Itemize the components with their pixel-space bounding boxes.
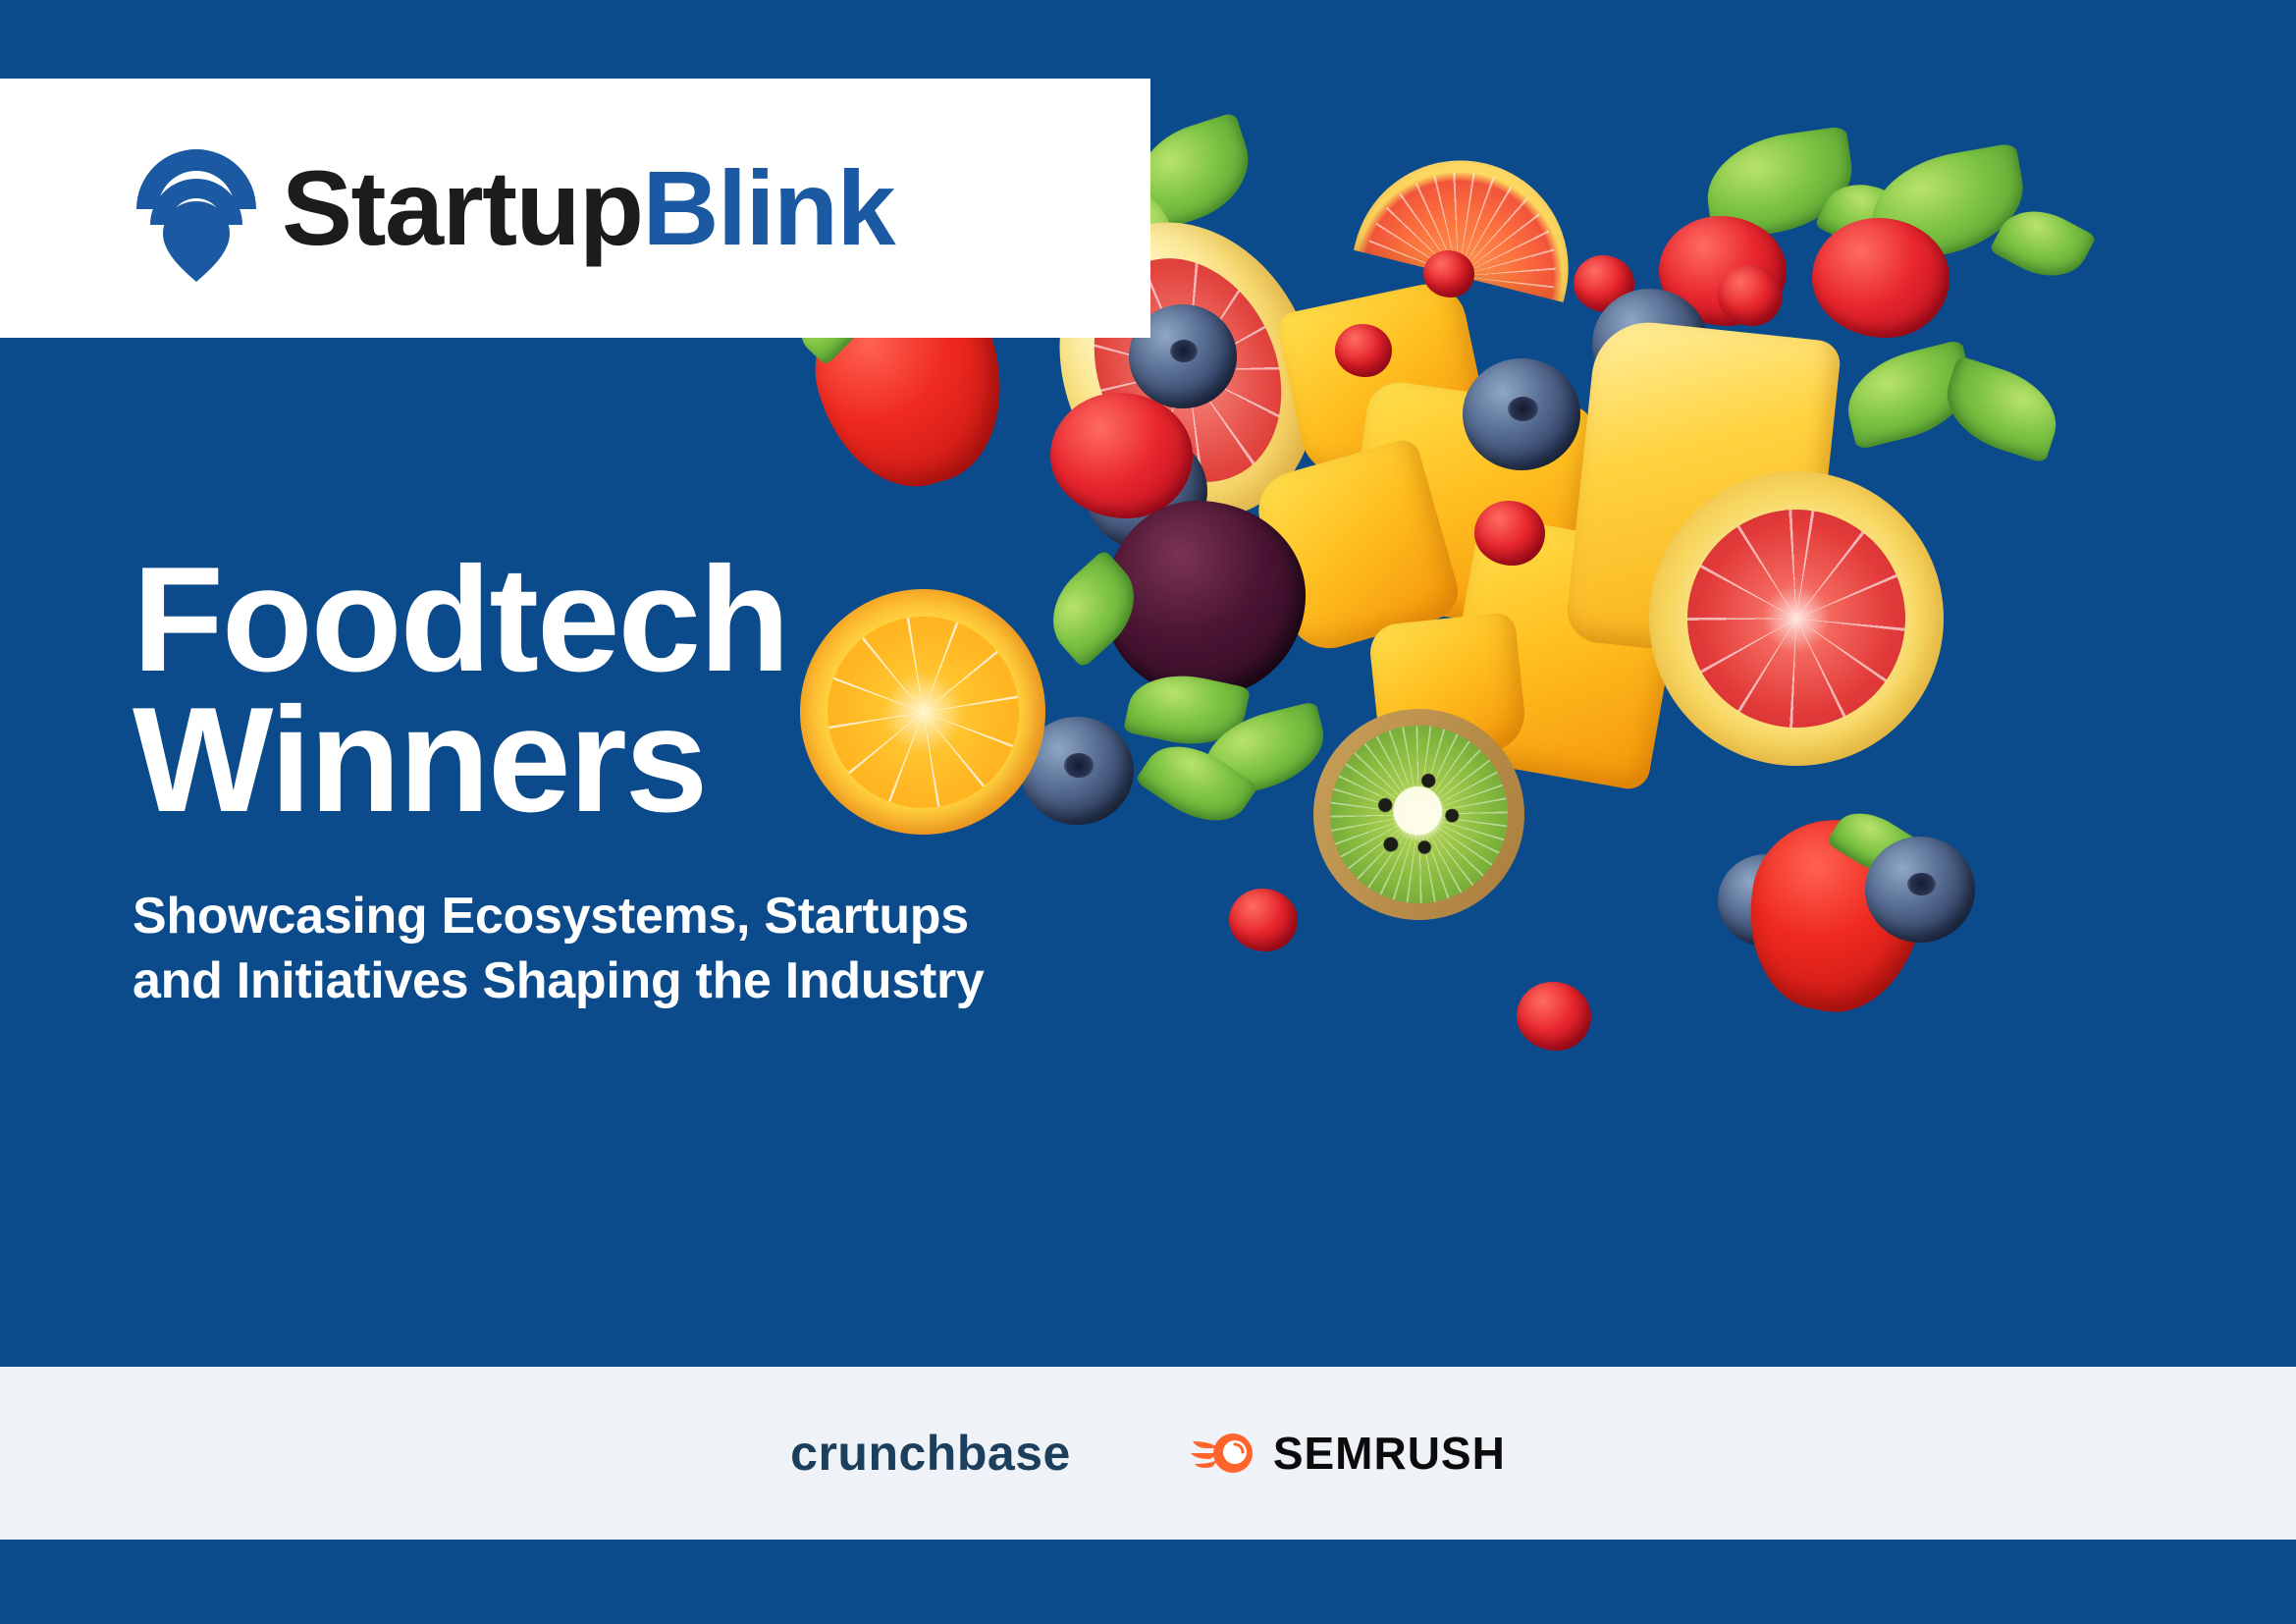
raspberry [1335,324,1392,377]
falling-fruit-collage [1168,108,2296,1188]
strawberry-leaf [1826,799,1924,888]
partner-logo-bar: crunchbase SEMRUSH [0,1367,2296,1540]
mango-chunk [1250,436,1465,658]
grapefruit-wedge [1354,137,1591,302]
semrush-wordmark: SEMRUSH [1273,1427,1506,1480]
kiwi-flesh [1306,701,1533,929]
mint-leaf-icon [1935,355,2068,464]
raspberry [1659,216,1787,326]
hero-copy: Foodtech Winners Showcasing Ecosystems, … [133,550,1232,1014]
mango-chunk [1275,277,1493,484]
blueberry [1085,432,1207,550]
raspberry [1229,889,1298,951]
brand-logo-panel: StartupBlink [0,79,1150,338]
raspberry [1718,265,1783,326]
strawberry [1734,806,1936,1024]
mint-leaf-icon [1814,169,1917,262]
wordmark-startup: Startup [282,148,643,267]
semrush-comet-icon [1189,1429,1255,1478]
blueberry [1463,358,1580,470]
raspberry [1423,250,1474,298]
title-line-2: Winners [133,690,1232,831]
grapefruit-rind [1649,609,1944,800]
raspberry [1474,501,1545,566]
raspberry [1605,555,1660,606]
wordmark-blink: Blink [643,148,895,267]
mint-leaf-icon [1989,195,2097,293]
semrush-logo[interactable]: SEMRUSH [1189,1427,1506,1480]
raspberry [1050,393,1193,518]
raspberry [1574,255,1634,312]
mango-chunk [1367,612,1528,764]
mint-leaf-icon [1838,340,1981,451]
kiwi-slice [1284,679,1555,950]
top-blue-band [0,0,2296,79]
startupblink-logo[interactable]: StartupBlink [133,135,894,282]
mint-leaf-icon [1700,126,1859,242]
location-pin-signal-icon [133,135,260,282]
grapefruit-half [1649,471,1944,766]
raspberry [1812,218,1949,338]
mint-leaf-icon [1863,142,2033,266]
mango-chunk [1564,317,1842,665]
subtitle-line-1: Showcasing Ecosystems, Startups [133,888,969,945]
startupblink-wordmark: StartupBlink [282,155,894,261]
page-subtitle: Showcasing Ecosystems, Startups and Init… [133,884,1232,1014]
mango-chunk [1340,378,1595,633]
grapefruit-flesh [1687,510,1905,728]
presentation-slide: StartupBlink Foodtech Winners Showcasing… [0,0,2296,1624]
blueberry [1592,289,1708,399]
bottom-blue-band [0,1540,2296,1624]
raspberry [1517,982,1591,1051]
crunchbase-logo[interactable]: crunchbase [790,1425,1071,1482]
subtitle-line-2: and Initiatives Shaping the Industry [133,948,1232,1014]
mango-chunk [1438,514,1688,792]
blueberry [1865,837,1975,943]
page-title: Foodtech Winners [133,550,1232,831]
blueberry [1718,854,1814,947]
